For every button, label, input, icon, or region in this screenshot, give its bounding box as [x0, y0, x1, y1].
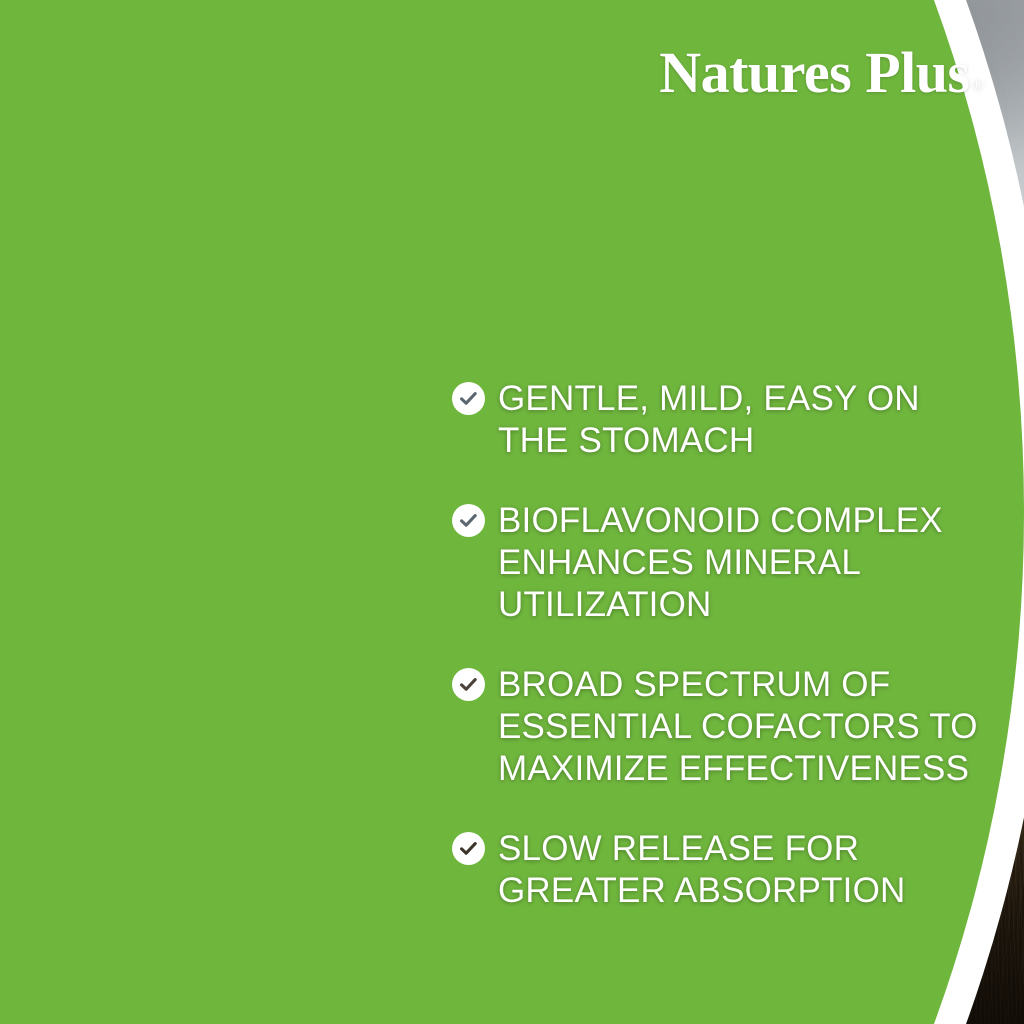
registered-trademark-icon: ® — [972, 75, 984, 94]
benefit-item: BIOFLAVONOID COMPLEX ENHANCES MINERAL UT… — [452, 500, 992, 626]
content-overlay: Natures Plus® GENTLE, MILD, EASY ON THE … — [0, 0, 1024, 1024]
benefit-text: BIOFLAVONOID COMPLEX ENHANCES MINERAL UT… — [498, 500, 992, 626]
benefit-text: GENTLE, MILD, EASY ON THE STOMACH — [498, 378, 992, 462]
brand-logo-text: Natures Plus — [659, 40, 969, 105]
benefit-item: GENTLE, MILD, EASY ON THE STOMACH — [452, 378, 992, 462]
check-circle-icon — [452, 382, 485, 415]
check-circle-icon — [452, 832, 485, 865]
benefits-list: GENTLE, MILD, EASY ON THE STOMACH BIOFLA… — [452, 378, 992, 912]
check-circle-icon — [452, 668, 485, 701]
check-circle-icon — [452, 504, 485, 537]
marketing-banner: Natures Plus® GENTLE, MILD, EASY ON THE … — [0, 0, 1024, 1024]
benefit-text: SLOW RELEASE FOR GREATER ABSORPTION — [498, 828, 992, 912]
benefit-item: SLOW RELEASE FOR GREATER ABSORPTION — [452, 828, 992, 912]
brand-logo: Natures Plus® — [659, 44, 982, 102]
benefit-item: BROAD SPECTRUM OF ESSENTIAL COFACTORS TO… — [452, 664, 992, 790]
benefit-text: BROAD SPECTRUM OF ESSENTIAL COFACTORS TO… — [498, 664, 992, 790]
